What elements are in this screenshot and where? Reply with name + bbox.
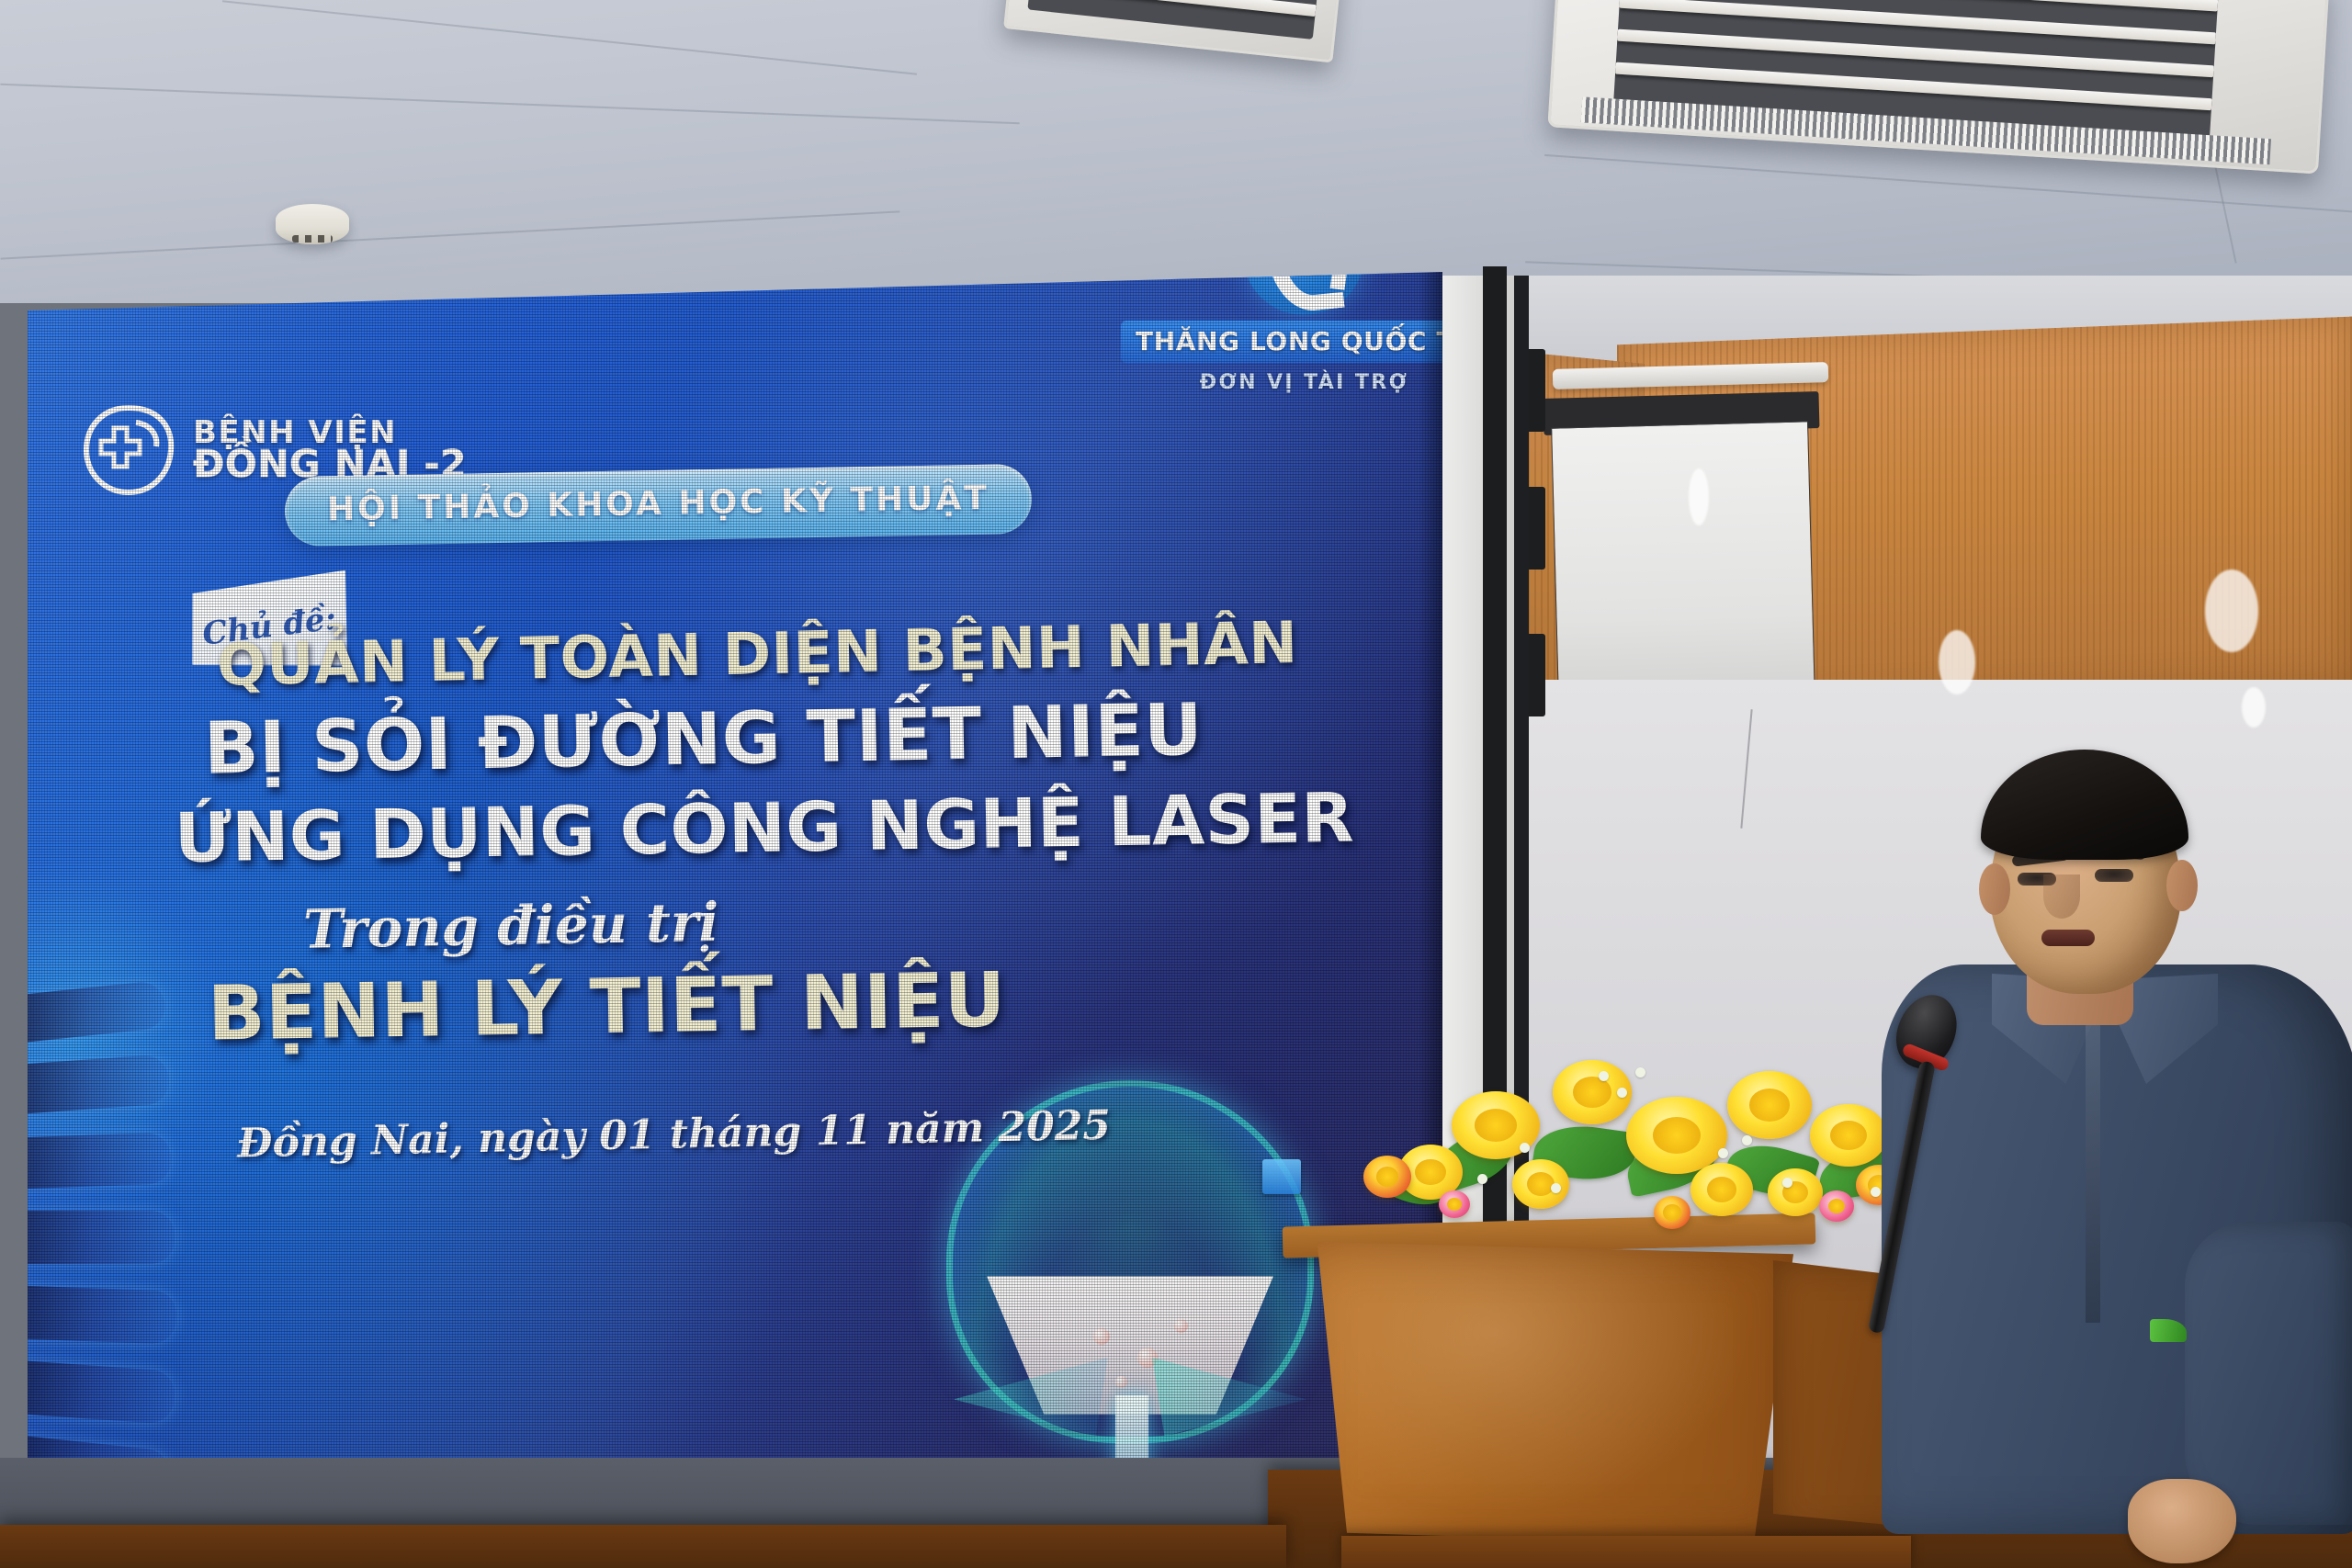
hospital-cross-circle-icon <box>81 402 176 498</box>
slide-title-line1: QUẢN LÝ TOÀN DIỆN BỆNH NHÂN <box>216 613 1332 694</box>
flower-arrangement <box>1323 1047 1966 1258</box>
conference-photo-scene: BỆNH VIỆN ĐỒNG NAI -2 THĂNG LONG QUỐC TẾ… <box>0 0 2352 1568</box>
smoke-detector-icon <box>276 204 349 244</box>
wall-blemish <box>2205 570 2258 652</box>
front-table-left <box>0 1525 1286 1568</box>
speaker-shirt-placket <box>2086 1020 2100 1323</box>
sponsor-name: THĂNG LONG QUỐC TẾ <box>1121 321 1442 363</box>
thang-long-wave-icon <box>1243 272 1364 315</box>
speaker-ear-left <box>1979 863 2010 915</box>
speaker-mouth <box>2041 930 2095 946</box>
slide-badge: HỘI THẢO KHOA HỌC KỸ THUẬT <box>284 464 1032 547</box>
wall-blemish <box>2242 687 2266 728</box>
microphone[interactable] <box>1898 994 1981 1361</box>
podium-front-panel <box>1297 1242 1793 1545</box>
speaker-ear-right <box>2166 860 2198 911</box>
slide-title-line4: BỆNH LÝ TIẾT NIỆU <box>207 957 1332 1052</box>
speaker-hand <box>2128 1479 2236 1563</box>
ac-grille <box>1028 0 1325 39</box>
podium-plaque <box>1262 1159 1301 1194</box>
slide-subtitle-script: Trong điều trị <box>303 885 1333 956</box>
led-video-wall: BỆNH VIỆN ĐỒNG NAI -2 THĂNG LONG QUỐC TẾ… <box>28 272 1442 1558</box>
sponsor-role: ĐƠN VỊ TÀI TRỢ <box>1121 371 1442 394</box>
speaker-right-arm <box>2185 1222 2352 1525</box>
sponsor-logo: THĂNG LONG QUỐC TẾ ĐƠN VỊ TÀI TRỢ <box>1121 272 1442 394</box>
slide-text-block: HỘI THẢO KHOA HỌC KỸ THUẬT Chủ đề: QUẢN … <box>184 470 1332 1153</box>
speaker-nose <box>2043 874 2080 919</box>
wall-blemish <box>1689 468 1709 525</box>
wall-blemish <box>1939 630 1975 694</box>
slide-title-line3: ỨNG DỤNG CÔNG NGHỆ LASER <box>174 784 1332 873</box>
projector-screen[interactable] <box>1551 421 1815 703</box>
speaker-hair <box>1981 750 2188 860</box>
slide-title-line2: BỊ SỎI ĐƯỜNG TIẾT NIỆU <box>203 692 1332 785</box>
podium-base <box>1341 1536 1911 1568</box>
